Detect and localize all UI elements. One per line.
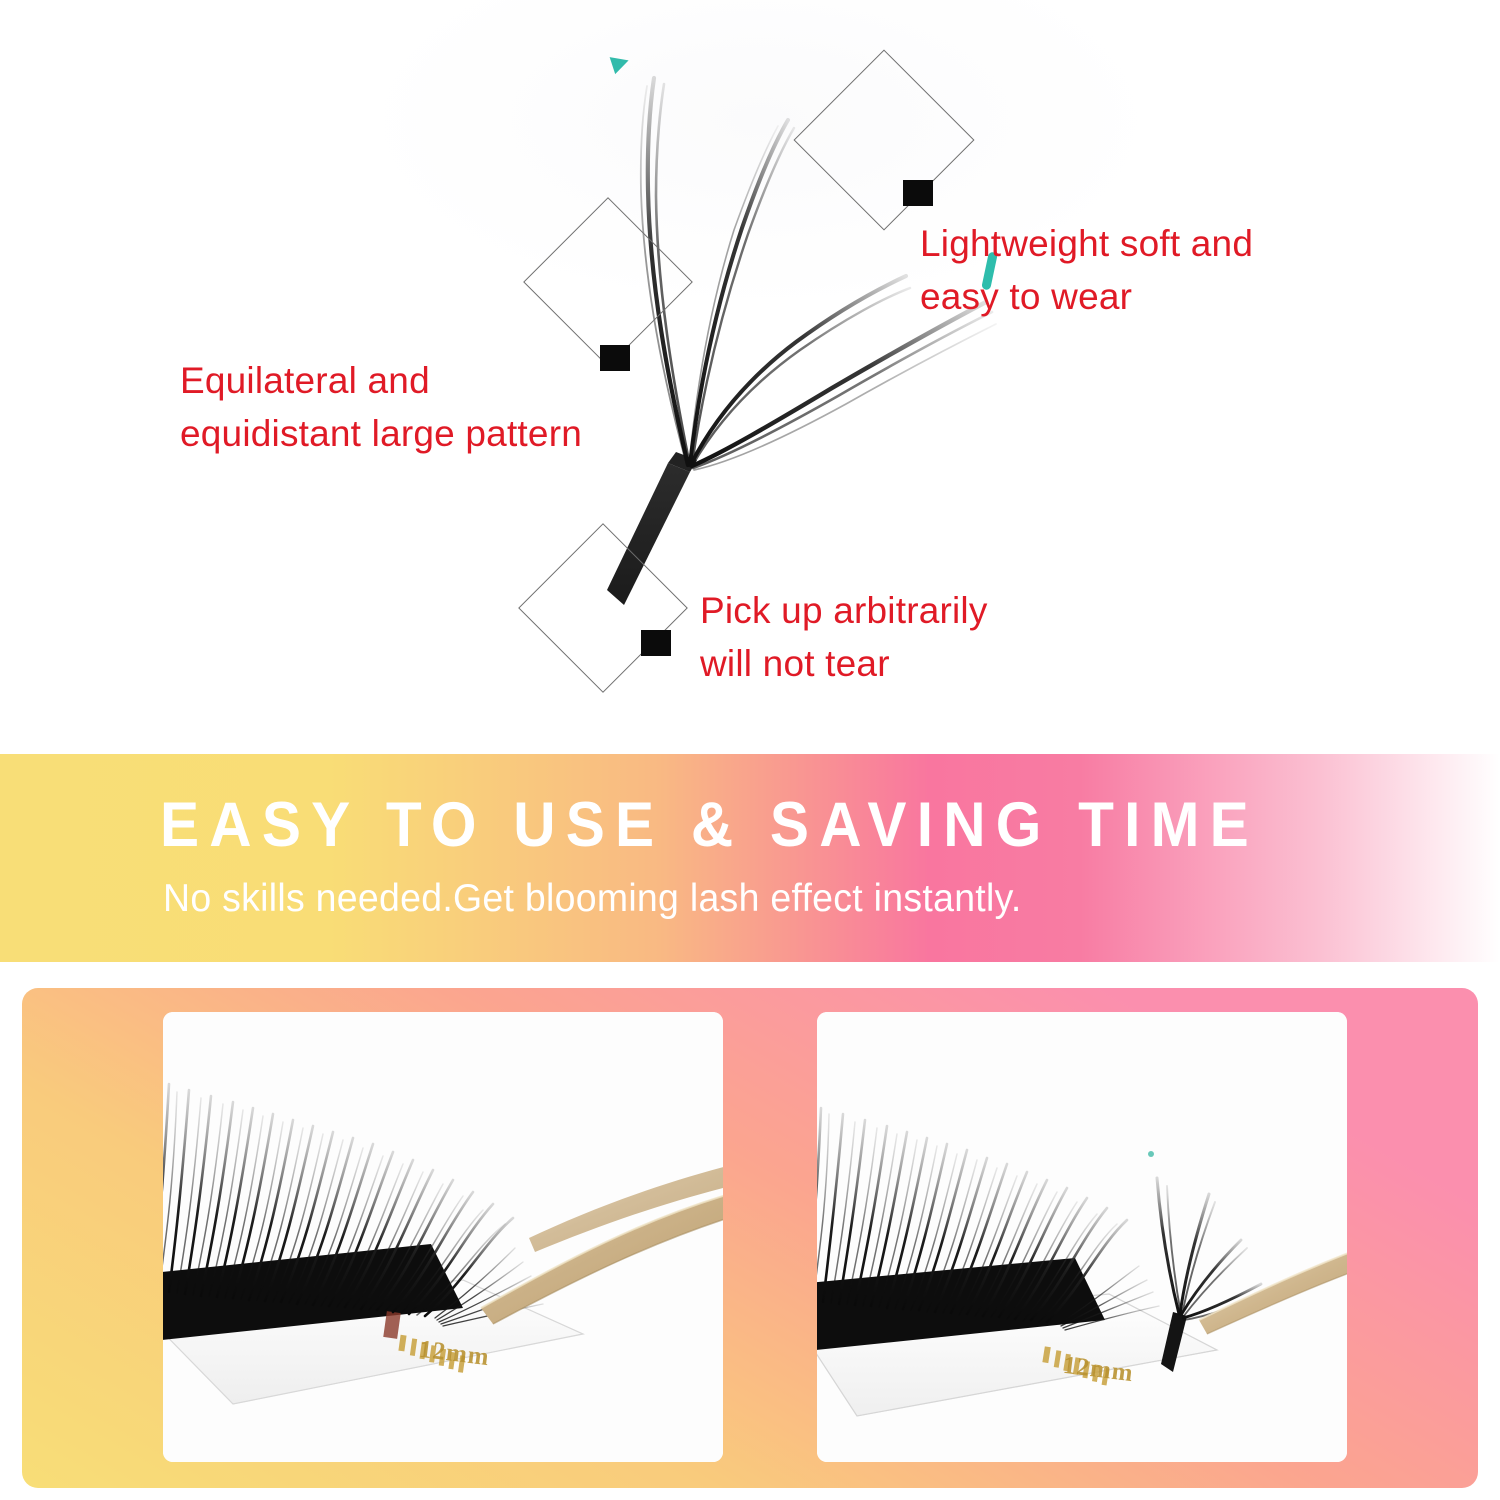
photo-right-artwork	[817, 1012, 1347, 1462]
callout-text-lightweight: Lightweight soft and easy to wear	[920, 218, 1253, 323]
bottom-photo-panel: 12mm	[22, 988, 1478, 1488]
callout-marker-node-left	[600, 345, 630, 371]
photo-left-artwork	[163, 1012, 723, 1462]
callout-text-pickup: Pick up arbitrarily will not tear	[700, 585, 988, 690]
product-photo-right: 12mm	[817, 1012, 1347, 1462]
banner-subtitle: No skills needed.Get blooming lash effec…	[163, 878, 1022, 921]
callout-marker-node-right	[903, 180, 933, 206]
banner-title: EASY TO USE & SAVING TIME	[160, 794, 1259, 857]
callout-marker-node-bottom	[641, 630, 671, 656]
product-feature-diagram: Equilateral and equidistant large patter…	[0, 0, 1500, 754]
callout-text-equilateral: Equilateral and equidistant large patter…	[180, 355, 582, 460]
product-photo-left: 12mm	[163, 1012, 723, 1462]
